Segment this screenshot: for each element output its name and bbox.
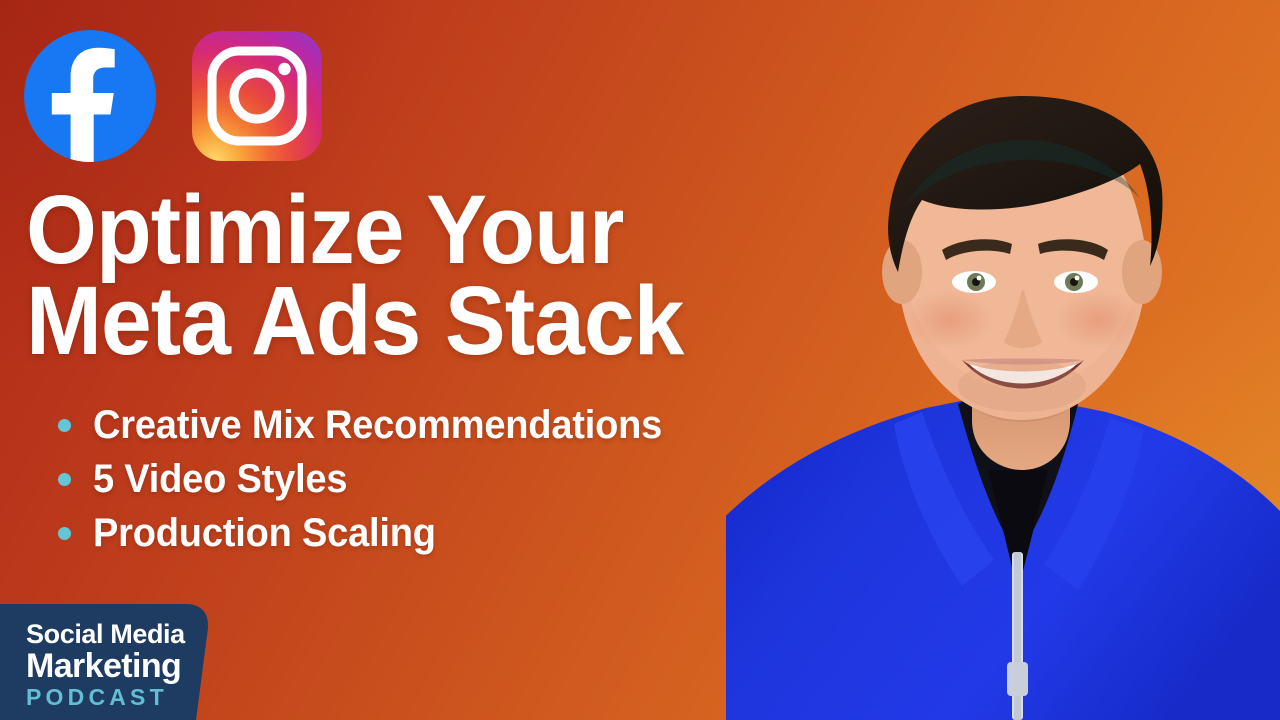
host-portrait [726, 0, 1280, 720]
feature-list: Creative Mix Recommendations 5 Video Sty… [58, 398, 818, 560]
list-item: Production Scaling [58, 506, 818, 560]
badge-line-podcast: PODCAST [26, 684, 206, 710]
podcast-badge: Social Media Marketing PODCAST [0, 604, 228, 720]
badge-line-marketing: Marketing [26, 649, 206, 684]
headline-line-1: Optimize Your [26, 184, 740, 275]
badge-line-social-media: Social Media [26, 620, 206, 649]
list-item-label: 5 Video Styles [93, 457, 347, 502]
list-item: 5 Video Styles [58, 452, 818, 506]
bullet-dot-icon [58, 419, 71, 432]
episode-cover: Optimize Your Meta Ads Stack Creative Mi… [0, 0, 1280, 720]
page-title: Optimize Your Meta Ads Stack [26, 184, 740, 366]
list-item: Creative Mix Recommendations [58, 398, 818, 452]
facebook-icon[interactable] [24, 30, 156, 162]
social-icon-row [24, 30, 322, 162]
instagram-icon[interactable] [192, 31, 322, 161]
bullet-dot-icon [58, 527, 71, 540]
badge-text-block: Social Media Marketing PODCAST [26, 620, 206, 710]
list-item-label: Production Scaling [93, 511, 436, 556]
headline-line-2: Meta Ads Stack [26, 275, 740, 366]
list-item-label: Creative Mix Recommendations [93, 403, 662, 448]
bullet-dot-icon [58, 473, 71, 486]
